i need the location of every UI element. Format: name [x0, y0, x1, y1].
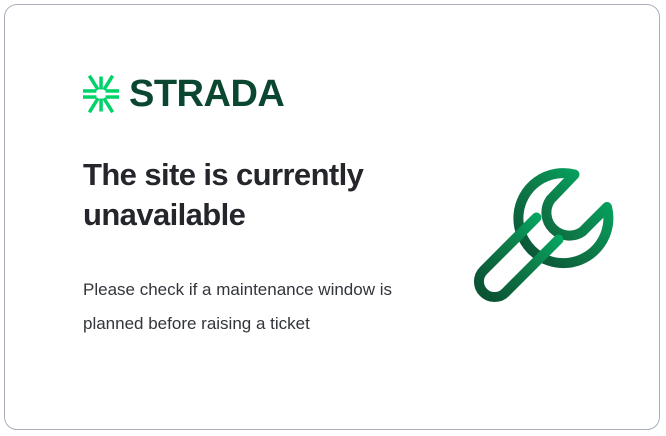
page-title: The site is currently unavailable [83, 155, 423, 234]
wrench-icon [457, 155, 627, 325]
brand-wordmark: STRADA [129, 75, 284, 113]
page-description: Please check if a maintenance window is … [83, 273, 403, 341]
brand-lockup: STRADA [83, 75, 284, 113]
strada-asterisk-icon [83, 75, 119, 113]
status-card: STRADA The site is currently unavailable… [4, 4, 660, 430]
